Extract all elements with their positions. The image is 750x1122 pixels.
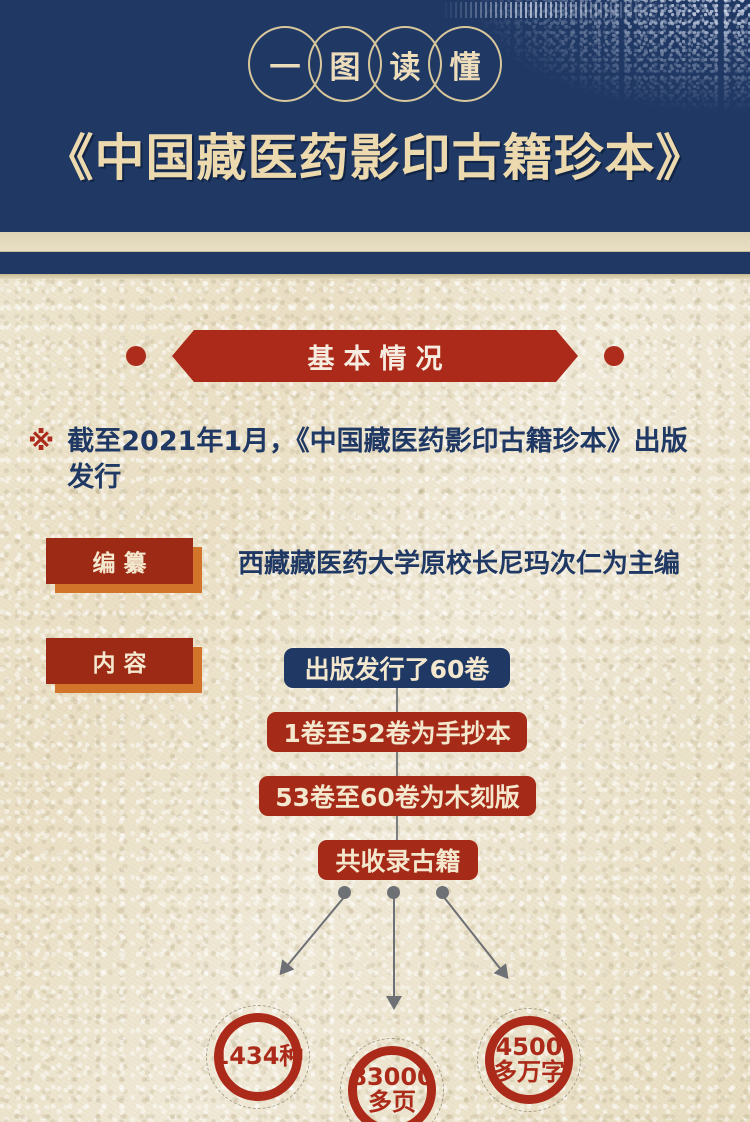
flow-connector-1 xyxy=(396,688,398,712)
stat-2-line2: 多页 xyxy=(368,1090,416,1115)
flow-box-woodblock: 53卷至60卷为木刻版 xyxy=(259,776,536,816)
infographic-page: 一 图 读 懂 《中国藏医药影印古籍珍本》 基本情况 ※ 截至2021年1月，《… xyxy=(0,0,750,1122)
stat-3-line1: 4500 xyxy=(496,1035,563,1060)
note-text: 截至2021年1月，《中国藏医药影印古籍珍本》出版发行 xyxy=(67,424,708,495)
stat-circle-pages: 83000 多页 xyxy=(340,1038,444,1122)
arrow-to-stat-1 xyxy=(282,896,345,972)
flow-box-volumes: 出版发行了60卷 xyxy=(284,648,510,688)
header-pill-4-label: 懂 xyxy=(450,42,481,87)
section-banner-hexagon: 基本情况 xyxy=(172,330,578,382)
arrow-to-stat-3 xyxy=(443,896,506,976)
divider-band-lower xyxy=(0,274,750,279)
tag-content: 内容 xyxy=(46,638,193,684)
flow-connector-2 xyxy=(396,752,398,776)
header-streak-texture xyxy=(440,2,670,18)
row-content: 内容 xyxy=(46,638,193,684)
section-banner: 基本情况 xyxy=(0,330,750,382)
stat-circle-characters: 4500 多万字 xyxy=(477,1008,581,1112)
banner-dot-right-icon xyxy=(604,346,624,366)
header-pill-3-label: 读 xyxy=(390,42,421,87)
header-banner: 一 图 读 懂 《中国藏医药影印古籍珍本》 xyxy=(0,0,750,232)
tag-compiler: 编纂 xyxy=(46,538,193,584)
header-pill-group: 一 图 读 懂 xyxy=(0,26,750,102)
flow-box-manuscript: 1卷至52卷为手抄本 xyxy=(267,712,527,752)
page-title: 《中国藏医药影印古籍珍本》 xyxy=(0,118,750,190)
row-compiler: 编纂 西藏藏医药大学原校长尼玛次仁为主编 xyxy=(46,538,680,584)
flow-box-total-collected: 共收录古籍 xyxy=(318,840,478,880)
header-pill-2-label: 图 xyxy=(330,42,361,87)
stat-3-ring: 4500 多万字 xyxy=(485,1016,573,1104)
stat-1-ring: 1434种 xyxy=(214,1013,302,1101)
stat-circle-types: 1434种 xyxy=(206,1005,310,1109)
stat-2-line1: 83000 xyxy=(350,1065,434,1090)
banner-dot-left-icon xyxy=(126,346,146,366)
stat-3-line2: 多万字 xyxy=(493,1060,565,1085)
tag-compiler-label: 编纂 xyxy=(85,544,155,578)
stat-1-line1: 1434种 xyxy=(213,1044,304,1069)
header-pill-4: 懂 xyxy=(428,26,502,102)
note-mark-icon: ※ xyxy=(28,424,54,495)
header-pill-1-label: 一 xyxy=(270,42,301,87)
divider-band-upper xyxy=(0,232,750,252)
tag-compiler-value: 西藏藏医药大学原校长尼玛次仁为主编 xyxy=(238,543,680,580)
divider-band-navy xyxy=(0,252,750,274)
note-block: ※ 截至2021年1月，《中国藏医药影印古籍珍本》出版发行 xyxy=(28,424,708,495)
tag-content-label: 内容 xyxy=(85,644,155,678)
section-title: 基本情况 xyxy=(299,337,452,376)
flow-connector-3 xyxy=(396,816,398,840)
flow-arrows xyxy=(0,880,750,1030)
